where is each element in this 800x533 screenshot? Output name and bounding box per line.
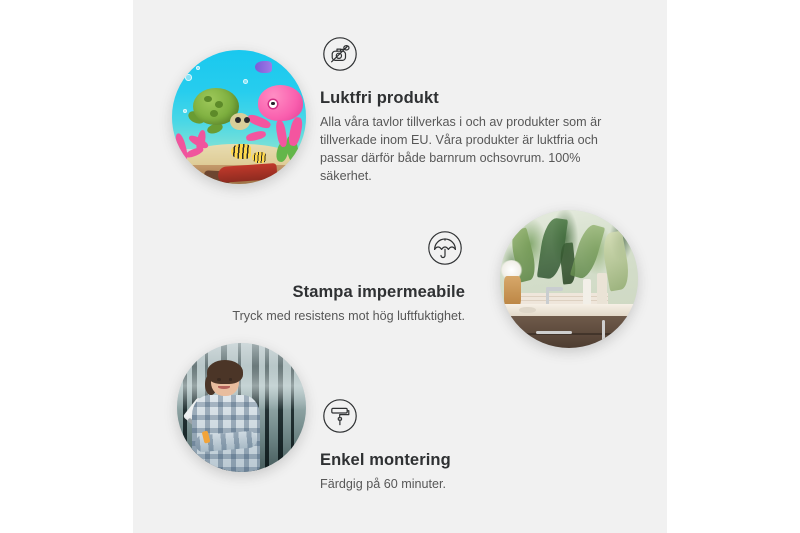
underwater-cartoon-circle-photo — [172, 50, 306, 184]
feature-title: Luktfri produkt — [320, 88, 625, 109]
infographic-stage: Luktfri produkt Alla våra tavlor tillver… — [0, 0, 800, 533]
bathroom-leaf-wallpaper-circle-photo — [500, 210, 638, 348]
woman-paint-roller-forest-circle-photo — [177, 343, 306, 472]
purple-fish — [255, 61, 272, 73]
feature-body: Färdgig på 60 minuter. — [320, 475, 580, 493]
feature-title: Enkel montering — [320, 450, 580, 471]
wood-vanity — [511, 316, 638, 348]
no-odor-spray-bottle-icon — [320, 34, 625, 79]
forest-woman-illustration — [177, 343, 306, 472]
yellow-striped-fish — [231, 144, 251, 159]
feature-title: Stampa impermeabile — [180, 282, 465, 303]
octopus — [258, 85, 304, 121]
umbrella-icon — [180, 228, 465, 273]
feature-body: Tryck med resistens mot hög luftfuktighe… — [180, 307, 465, 325]
bathroom-illustration — [500, 210, 638, 348]
underwater-illustration — [172, 50, 306, 184]
feature-waterproof-print: Stampa impermeabile Tryck med resistens … — [180, 228, 465, 325]
paint-roller-icon — [320, 396, 580, 441]
feature-body: Alla våra tavlor tillverkas i och av pro… — [320, 113, 620, 186]
feature-easy-assembly: Enkel montering Färdgig på 60 minuter. — [320, 396, 580, 493]
feature-odour-free: Luktfri produkt Alla våra tavlor tillver… — [320, 34, 625, 186]
